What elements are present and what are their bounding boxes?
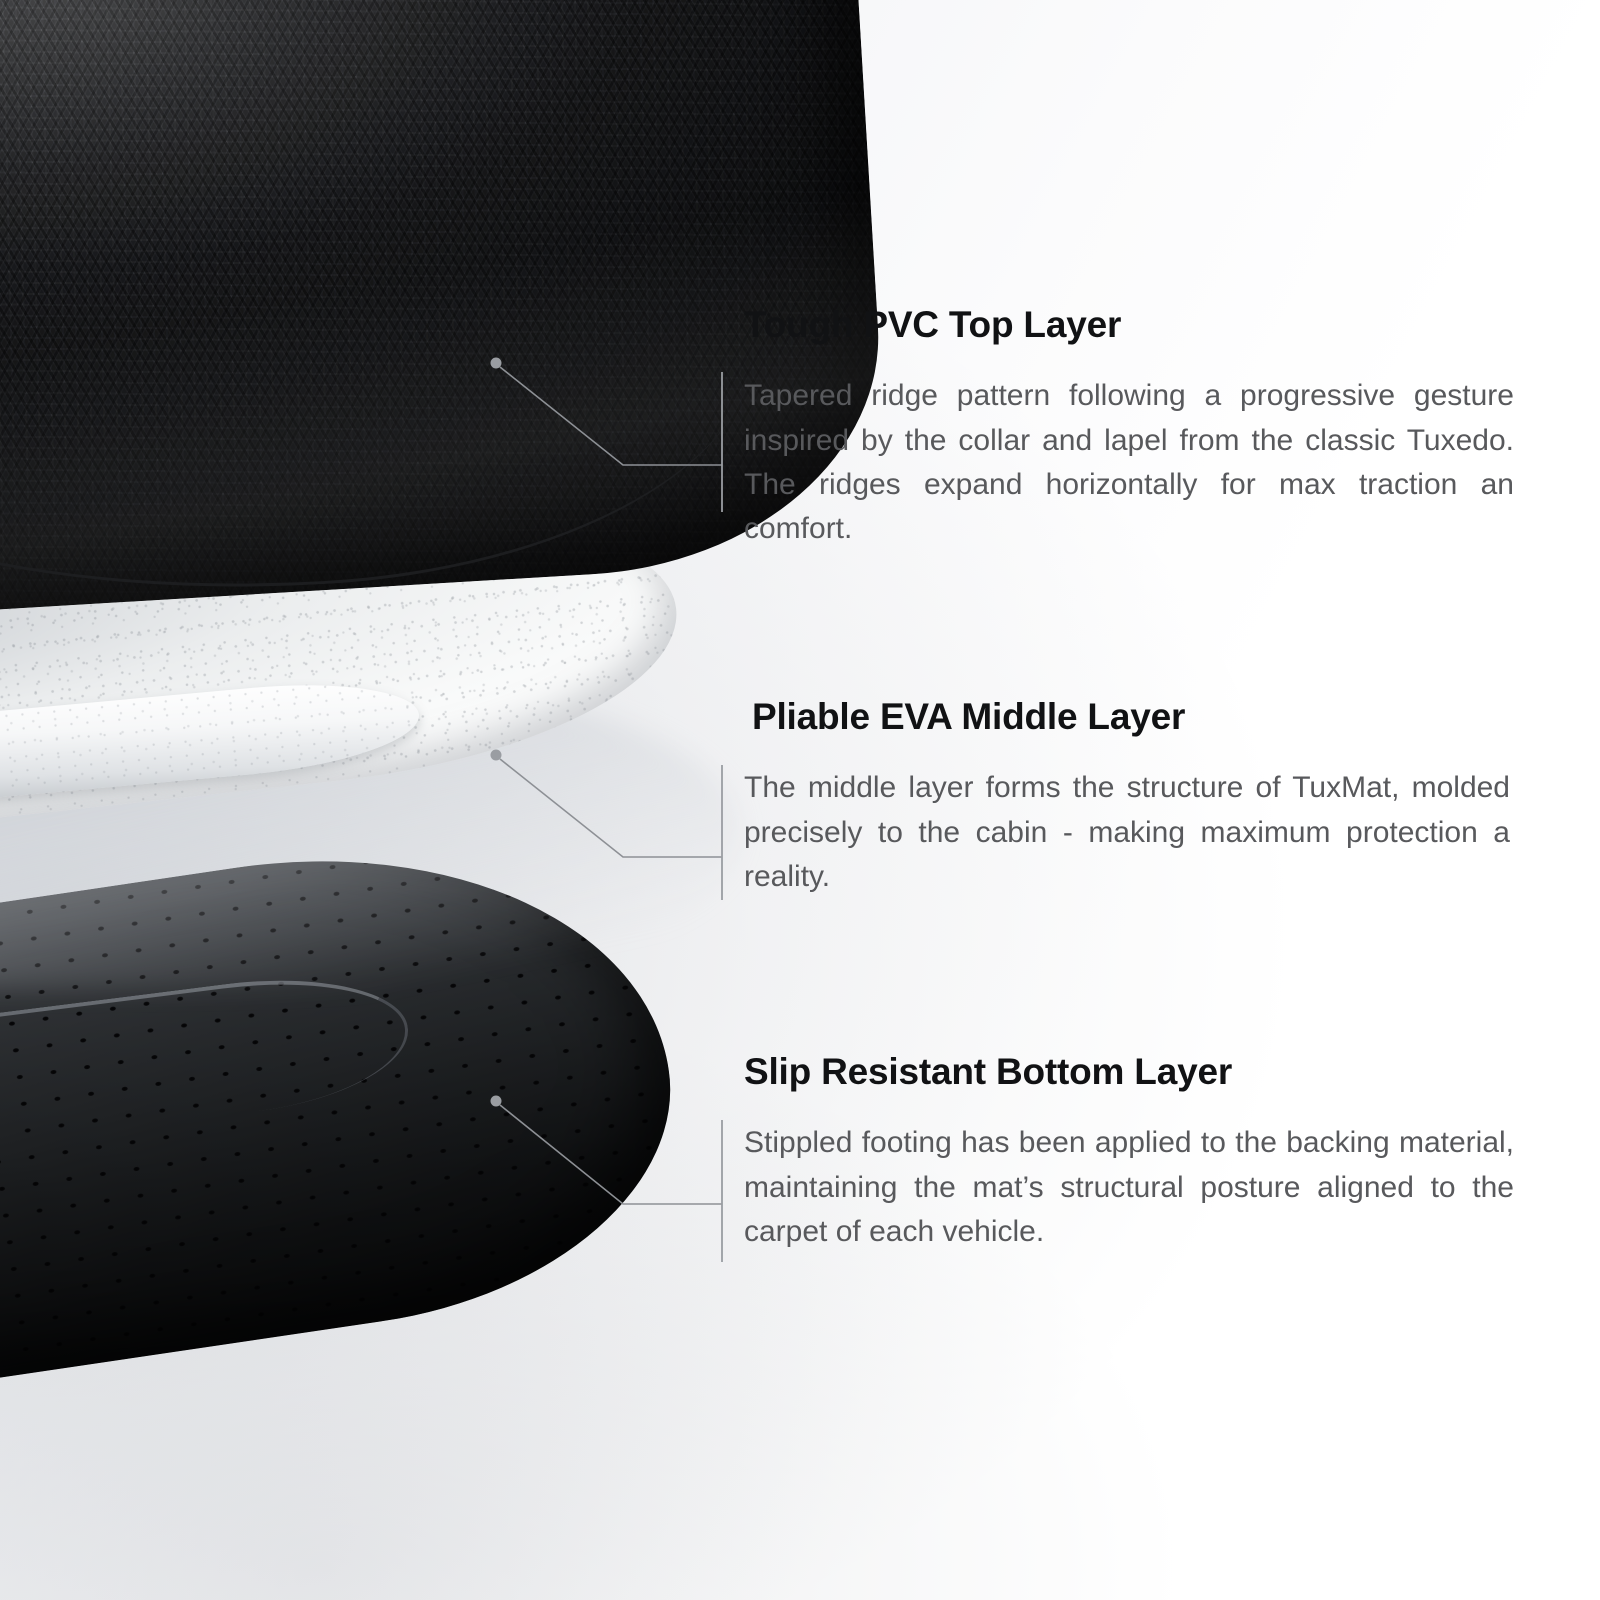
callout-title-bottom-layer: Slip Resistant Bottom Layer [744,1053,1514,1091]
callout-bottom-layer: Slip Resistant Bottom Layer Stippled foo… [744,1053,1514,1254]
callout-title-middle-layer: Pliable EVA Middle Layer [752,698,1518,736]
bottom-layer-illustration [0,880,690,1440]
callout-title-top-layer: Tough PVC Top Layer [744,306,1514,344]
callout-top-layer: Tough PVC Top Layer Tapered ridge patter… [744,306,1514,551]
infographic-canvas: Tough PVC Top Layer Tapered ridge patter… [0,0,1600,1600]
callout-body-bottom-layer: Stippled footing has been applied to the… [744,1121,1514,1253]
top-layer-illustration [0,0,870,590]
callout-middle-layer: Pliable EVA Middle Layer The middle laye… [752,698,1518,899]
callout-body-middle-layer: The middle layer forms the structure of … [744,766,1510,898]
callout-body-top-layer: Tapered ridge pattern following a progre… [744,374,1514,550]
